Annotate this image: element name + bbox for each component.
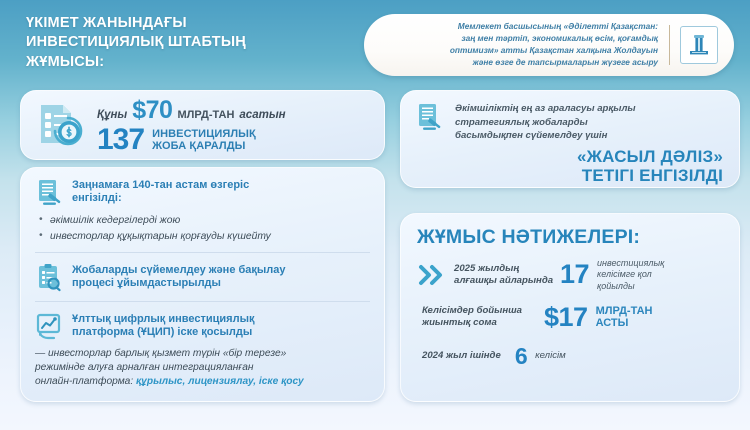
legislation-bullets: әкімшілік кедергілерді жою инвесторлар қ… (39, 214, 368, 244)
result-3-number: 6 (515, 345, 527, 368)
green-sub-line-1: Әкімшіліктің ең аз араласуы арқылы (455, 103, 636, 114)
cost-unit: МЛРД-ТАН (177, 109, 234, 121)
platform-title: Ұлттық цифрлық инвестициялық платформа (… (72, 312, 254, 339)
page-title-line-1: ҮКІМЕТ ЖАНЫНДАҒЫ (26, 14, 356, 33)
result-1-unit-line-1: инвестициялық (597, 258, 664, 268)
project-label-line-1: ИНВЕСТИЦИЯЛЫҚ (152, 128, 256, 140)
platform-title-line-2: платформа (ҰЦИП) іске қосылды (72, 326, 252, 338)
reforms-card: Заңнамаға 140-тан астам өзгеріс енгізілд… (20, 167, 385, 402)
platform-services-highlight: құрылыс, лицензиялау, іске қосу (136, 376, 304, 387)
result-1-unit: инвестициялық келісімге қол қойылды (597, 258, 664, 292)
green-sub-line-2: стратегиялық жобаларды (455, 117, 588, 128)
page-title-line-3: ЖҰМЫСЫ: (26, 53, 356, 72)
emblem-frame (680, 26, 718, 64)
header-banner: Мемлекет басшысының «Әділетті Қазақстан:… (364, 14, 734, 76)
cost-card: $ Құны $70 МЛРД-ТАН асатын 137 ИНВЕСТИЦИ… (20, 90, 385, 160)
result-1-unit-line-3: қойылды (597, 281, 635, 291)
result-2-unit: МЛРД-ТАН АСТЫ (596, 305, 653, 330)
document-finance-icon: $ (35, 101, 87, 149)
result-row-2024: 2024 жыл ішінде 6 келісім (401, 331, 739, 368)
result-2-label-line-1: Келісімдер бойынша (422, 305, 522, 316)
clipboard-magnifier-icon (35, 263, 63, 293)
platform-note-line-1: — инвесторлар барлық қызмет түрін «бір т… (35, 348, 286, 359)
result-row-agreements-2025: 2025 жылдың алғашқы айларында 17 инвести… (401, 253, 739, 292)
result-2-number: $17 (544, 304, 588, 331)
monitoring-title-line-1: Жобаларды сүйемелдеу және бақылау (72, 264, 286, 276)
svg-text:$: $ (66, 128, 72, 139)
result-row-total-sum: Келісімдер бойынша жиынтық сома $17 МЛРД… (401, 292, 739, 331)
green-corridor-subtitle: Әкімшіліктің ең аз араласуы арқылы страт… (455, 102, 636, 143)
list-item: инвесторлар құқықтарын қорғауды күшейту (39, 230, 368, 243)
legislation-title: Заңнамаға 140-тан астам өзгеріс енгізілд… (72, 178, 249, 205)
platform-note-line-2: режимінде алуға арналған интеграцияланға… (35, 362, 254, 373)
platform-note-line-3-prefix: онлайн-платформа: (35, 376, 136, 387)
list-item: әкімшілік кедергілерді жою (39, 214, 368, 227)
banner-divider (669, 25, 670, 65)
project-label-line-2: ЖОБА ҚАРАЛДЫ (152, 140, 245, 152)
result-3-label: 2024 жыл ішінде (422, 350, 501, 362)
project-count-label: ИНВЕСТИЦИЯЛЫҚ ЖОБА ҚАРАЛДЫ (152, 128, 256, 153)
page-title-line-2: ИНВЕСТИЦИЯЛЫҚ ШТАБТЫҢ (26, 33, 356, 52)
platform-note: — инвесторлар барлық қызмет түрін «бір т… (35, 347, 368, 389)
project-count: 137 (97, 126, 144, 155)
cost-suffix: асатын (239, 109, 285, 121)
result-1-label-line-2: алғашқы айларында (454, 275, 553, 286)
digital-platform-chart-icon (35, 312, 63, 342)
result-row-2-label: Келісімдер бойынша жиынтық сома (422, 305, 540, 330)
monitoring-block: Жобаларды сүйемелдеу және бақылау процес… (21, 253, 384, 301)
result-row-1-label: 2025 жылдың алғашқы айларында (454, 263, 556, 288)
result-2-unit-line-1: МЛРД-ТАН (596, 305, 653, 317)
cost-headline: Құны $70 МЛРД-ТАН асатын (97, 96, 286, 125)
double-chevron-icon (417, 262, 447, 288)
green-big-line-1: «ЖАСЫЛ ДӘЛІЗ» (401, 147, 723, 166)
banner-line-2: заң мен тәртіп, экономикалық өсім, қоғам… (378, 33, 658, 45)
results-card: ЖҰМЫС НӘТИЖЕЛЕРІ: 2025 жылдың алғашқы ай… (400, 213, 740, 402)
page-title: ҮКІМЕТ ЖАНЫНДАҒЫ ИНВЕСТИЦИЯЛЫҚ ШТАБТЫҢ Ж… (26, 14, 356, 72)
green-corridor-card: Әкімшіліктің ең аз араласуы арқылы страт… (400, 90, 740, 188)
law-document-gavel-icon (35, 178, 63, 208)
cost-amount: $70 (132, 96, 172, 125)
results-title: ЖҰМЫС НӘТИЖЕЛЕРІ: (401, 214, 739, 253)
result-1-label-line-1: 2025 жылдың (454, 263, 519, 274)
result-2-unit-line-2: АСТЫ (596, 317, 629, 329)
legislation-block: Заңнамаға 140-тан астам өзгеріс енгізілд… (21, 168, 384, 252)
platform-title-line-1: Ұлттық цифрлық инвестициялық (72, 313, 254, 325)
monitoring-title: Жобаларды сүйемелдеу және бақылау процес… (72, 263, 286, 290)
strategic-document-gavel-icon (415, 102, 445, 136)
monitoring-title-line-2: процесі ұйымдастырылды (72, 277, 221, 289)
legislation-title-line-2: енгізілді: (72, 192, 122, 204)
green-corridor-headline: «ЖАСЫЛ ДӘЛІЗ» ТЕТІГІ ЕНГІЗІЛДІ (401, 143, 739, 185)
banner-text: Мемлекет басшысының «Әділетті Қазақстан:… (378, 21, 669, 68)
banner-line-1: Мемлекет басшысының «Әділетті Қазақстан: (378, 21, 658, 33)
green-sub-line-3: басымдықпен сүйемелдеу үшін (455, 130, 607, 141)
cost-prefix: Құны (97, 109, 127, 121)
banner-line-4: және өзге де тапсырмаларын жүзеге асыру (378, 57, 658, 69)
platform-block: Ұлттық цифрлық инвестициялық платформа (… (21, 302, 384, 397)
infographic-poster: ҮКІМЕТ ЖАНЫНДАҒЫ ИНВЕСТИЦИЯЛЫҚ ШТАБТЫҢ Ж… (0, 0, 750, 430)
banner-line-3: оптимизм» атты Қазақстан халқына Жолдауы… (378, 45, 658, 57)
result-1-number: 17 (560, 261, 589, 288)
result-2-label-line-2: жиынтық сома (422, 317, 497, 328)
legislation-title-line-1: Заңнамаға 140-тан астам өзгеріс (72, 179, 249, 191)
result-3-unit: келісім (535, 350, 566, 362)
project-count-row: 137 ИНВЕСТИЦИЯЛЫҚ ЖОБА ҚАРАЛДЫ (97, 126, 286, 155)
monument-icon (687, 32, 711, 58)
green-big-line-2: ТЕТІГІ ЕНГІЗІЛДІ (401, 166, 723, 185)
result-1-unit-line-2: келісімге қол (597, 269, 652, 279)
